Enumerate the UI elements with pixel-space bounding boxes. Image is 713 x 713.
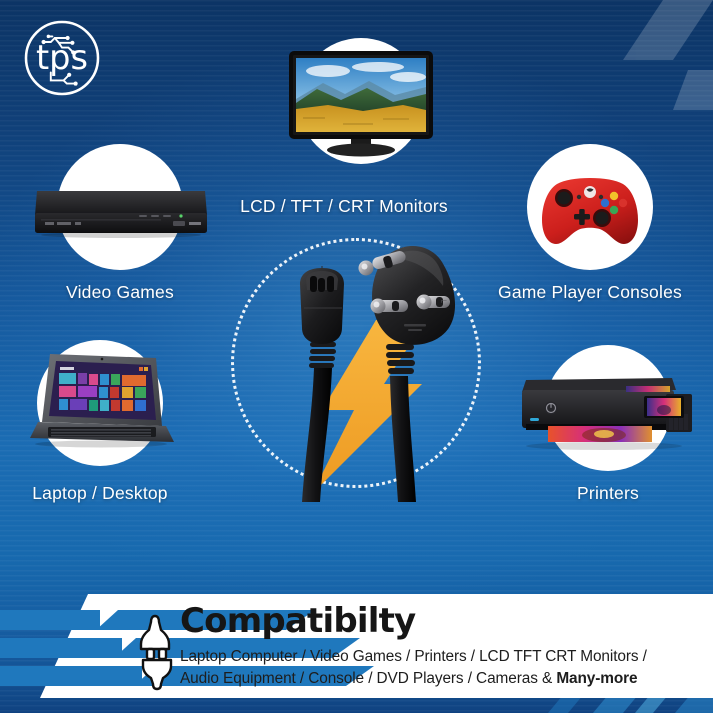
svg-text:⌐: ⌐ <box>440 297 448 307</box>
pod-label-consoles: Game Player Consoles <box>460 282 713 303</box>
laptop-thumbnail <box>26 348 176 460</box>
banner-line-2-strong: Many-more <box>556 670 637 687</box>
power-cable-illustration: ⌐ <box>226 232 488 502</box>
pod-label-monitors: LCD / TFT / CRT Monitors <box>214 196 474 217</box>
plug-and-socket-icon <box>132 612 178 692</box>
pod-label-laptop: Laptop / Desktop <box>0 483 230 504</box>
hero-power-cable: ⌐ <box>226 232 488 502</box>
banner-line-1: Laptop Computer / Video Games / Printers… <box>180 646 700 668</box>
dvd-player-thumbnail <box>31 175 211 247</box>
live-pin <box>371 299 409 314</box>
game-controller-thumbnail <box>538 170 642 252</box>
monitor-thumbnail <box>283 47 439 159</box>
banner-line-2: Audio Equipment / Console / DVD Players … <box>180 668 700 690</box>
banner-title: Compatibilty <box>180 604 700 638</box>
tps-circuit-logo: tps <box>22 18 102 98</box>
banner-line-2-prefix: Audio Equipment / Console / DVD Players … <box>180 670 556 687</box>
printer-thumbnail <box>514 368 698 456</box>
corner-stripe-decoration-top <box>513 0 713 130</box>
logo-wordmark: tps <box>36 38 88 77</box>
banner-text-block: Compatibilty Laptop Computer / Video Gam… <box>180 604 700 690</box>
pod-label-video-games: Video Games <box>0 282 250 303</box>
pod-label-printers: Printers <box>478 483 713 504</box>
infographic-canvas: tps <box>0 0 713 713</box>
